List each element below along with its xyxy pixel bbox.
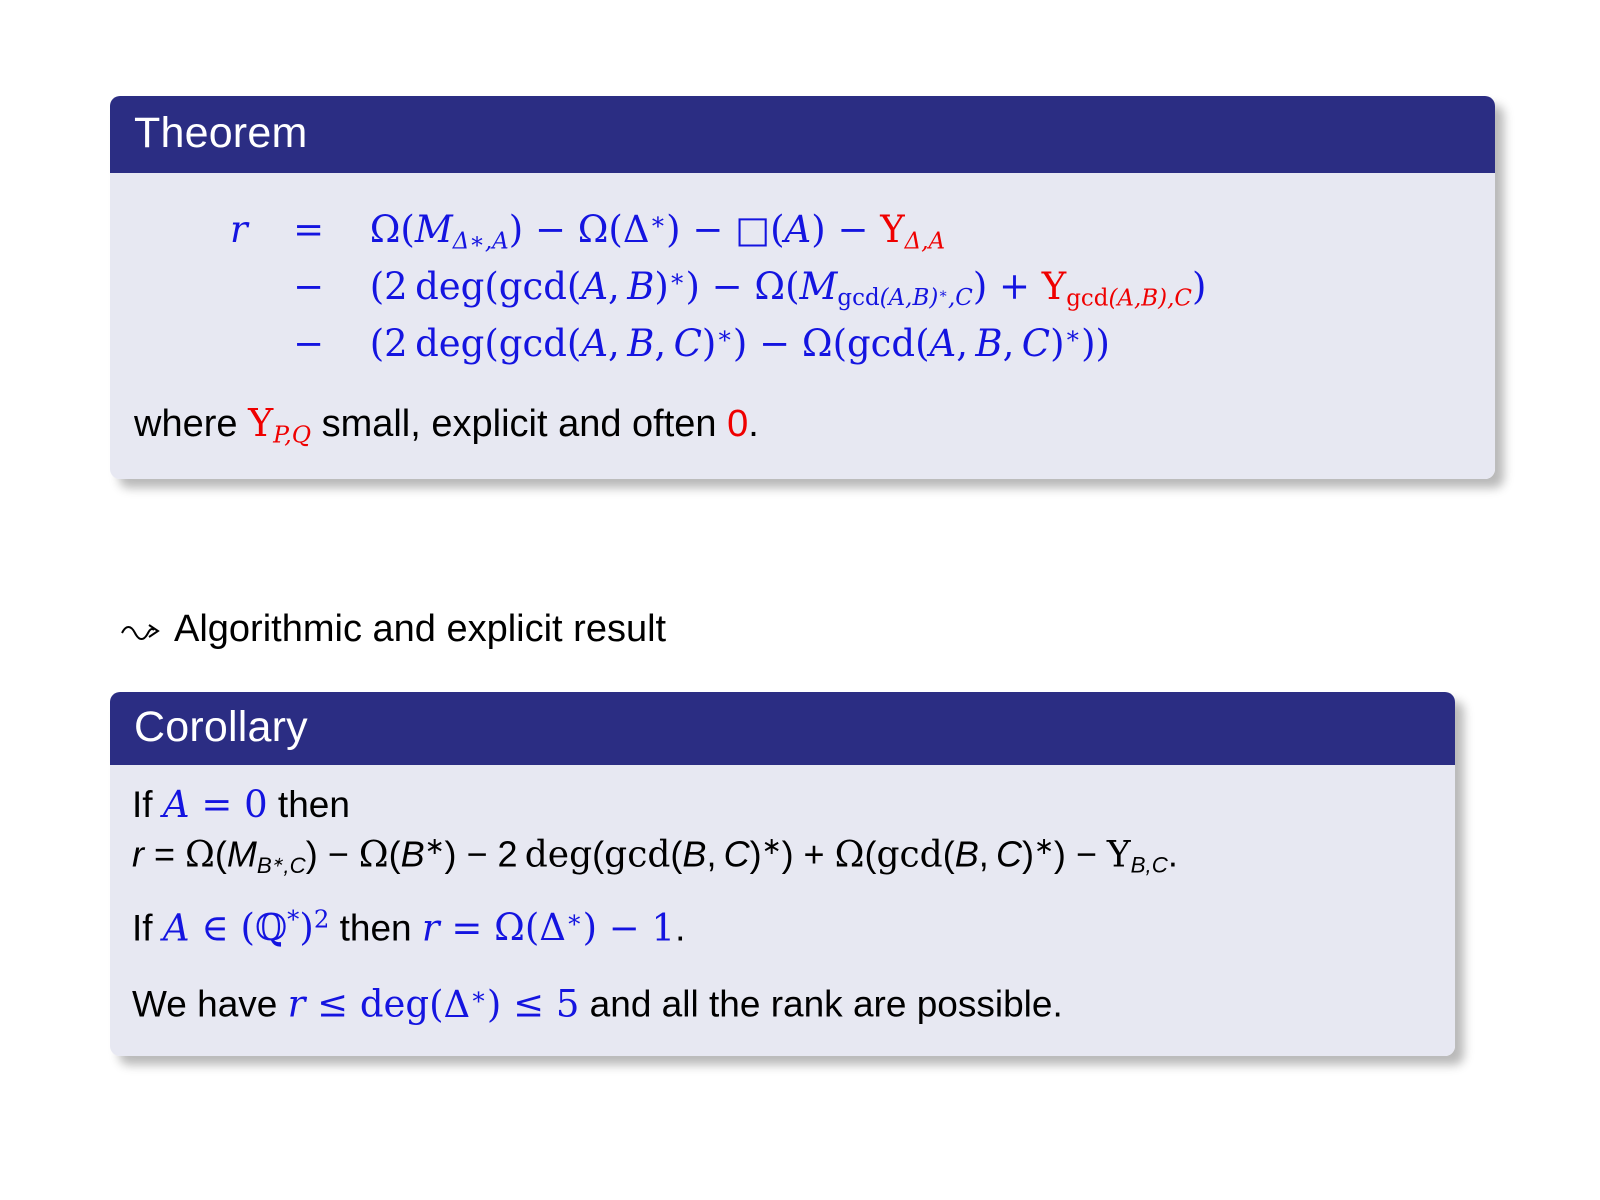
cor1-variable-a: A — [163, 783, 190, 826]
equation-row-2: − (2 deg(gcd(A, B)∗) − Ω(Mgcd(A,B)∗,C) +… — [230, 260, 1206, 317]
corollary-line-1: If A = 0 then — [132, 783, 1433, 826]
corollary-line-4: We have r ≤ deg(Δ∗) ≤ 5 and all the rank… — [132, 981, 1433, 1026]
equation-rhs-3: (2 deg(gcd(A, B, C)∗) − Ω(gcd(A, B, C)∗)… — [370, 317, 1207, 371]
where-period: . — [748, 403, 759, 445]
cor3-if: If — [132, 907, 163, 948]
equation-relation: = — [293, 208, 324, 251]
theorem-equation: r = Ω(MΔ∗,A) − Ω(Δ∗) − □(A) − ΥΔ,A − (2 … — [230, 203, 1206, 371]
theorem-where-line: where ΥP,Q small, explicit and often 0. — [134, 401, 1471, 449]
omega-symbol: Ω — [370, 208, 401, 251]
cor3-variable-a: A — [163, 906, 190, 949]
cor4-le-2: ≤ — [501, 983, 556, 1026]
upsilon-symbol: Υ — [1107, 834, 1131, 875]
corollary-block-title: Corollary — [110, 692, 1455, 765]
cor3-rank-r: r — [422, 906, 440, 949]
corollary-block-body: If A = 0 then r = Ω(MB∗,C) − Ω(B∗) − 2 d… — [110, 765, 1455, 1056]
upsilon-symbol: Υ — [248, 401, 273, 445]
cor3-star: * — [287, 905, 299, 934]
upsilon-symbol: Υ — [1042, 265, 1066, 308]
cor3-rationals-group: (ℚ*)2 — [241, 906, 330, 949]
cor1-then: then — [268, 784, 350, 825]
cor3-element-of: ∈ — [190, 906, 241, 949]
omega-symbol: Ω — [578, 208, 609, 251]
cor4-delta-star: (Δ∗) — [429, 983, 501, 1026]
cor3-period: . — [675, 907, 685, 948]
theorem-block-title: Theorem — [110, 96, 1495, 173]
cor4-suffix: and all the rank are possible. — [579, 984, 1062, 1025]
cor4-deg: deg — [360, 983, 429, 1026]
equation-row-3: − (2 deg(gcd(A, B, C)∗) − Ω(gcd(A, B, C)… — [230, 317, 1206, 371]
cor4-five: 5 — [556, 983, 580, 1026]
corollary-block: Corollary If A = 0 then r = Ω(MB∗,C) − Ω… — [110, 692, 1455, 1056]
equation-rhs-2: (2 deg(gcd(A, B)∗) − Ω(Mgcd(A,B)∗,C) + Υ… — [370, 260, 1207, 317]
cor3-equals: = — [440, 906, 495, 949]
cor1-zero: 0 — [244, 783, 268, 826]
where-prefix: where — [134, 403, 248, 445]
corollary-line-3: If A ∈ (ℚ*)2 then r = Ω(Δ∗) − 1. — [132, 905, 1433, 950]
theorem-block: Theorem r = Ω(MΔ∗,A) − Ω(Δ∗) − □(A) − ΥΔ… — [110, 96, 1495, 479]
where-zero: 0 — [727, 403, 748, 445]
cor4-rank-r: r — [288, 983, 306, 1026]
where-suffix: small, explicit and often — [311, 403, 727, 445]
arrow-note-line: Algorithmic and explicit result — [120, 608, 666, 652]
cor3-one: 1 — [652, 906, 676, 949]
equation-connector-3: − — [293, 322, 324, 365]
corollary-line-2: r = Ω(MB∗,C) − Ω(B∗) − 2 deg(gcd(B, C)∗)… — [132, 832, 1433, 879]
equation-rhs-1: Ω(MΔ∗,A) − Ω(Δ∗) − □(A) − ΥΔ,A — [370, 203, 1207, 260]
squiggly-arrow-icon — [120, 609, 164, 652]
cor3-omega-delta: Ω(Δ∗) — [494, 906, 597, 949]
cor1-if: If — [132, 784, 163, 825]
cor3-minus: − — [597, 906, 652, 949]
cor2-period: . — [1168, 833, 1178, 874]
blackboard-q-icon: ℚ — [255, 906, 287, 949]
cor4-prefix: We have — [132, 984, 288, 1025]
cor1-equals: = — [190, 783, 245, 826]
square-symbol: □ — [735, 208, 770, 251]
cor3-then: then — [329, 907, 422, 948]
upsilon-subscript: P,Q — [273, 421, 311, 449]
theorem-block-body: r = Ω(MΔ∗,A) − Ω(Δ∗) − □(A) − ΥΔ,A − (2 … — [110, 173, 1495, 479]
upsilon-symbol: Υ — [880, 208, 904, 251]
equation-connector-2: − — [293, 265, 324, 308]
equation-lhs: r — [230, 208, 248, 251]
cor3-power: 2 — [314, 905, 330, 934]
equation-row-1: r = Ω(MΔ∗,A) − Ω(Δ∗) − □(A) − ΥΔ,A — [230, 203, 1206, 260]
cor4-le-1: ≤ — [305, 983, 360, 1026]
arrow-note-text: Algorithmic and explicit result — [174, 608, 666, 650]
